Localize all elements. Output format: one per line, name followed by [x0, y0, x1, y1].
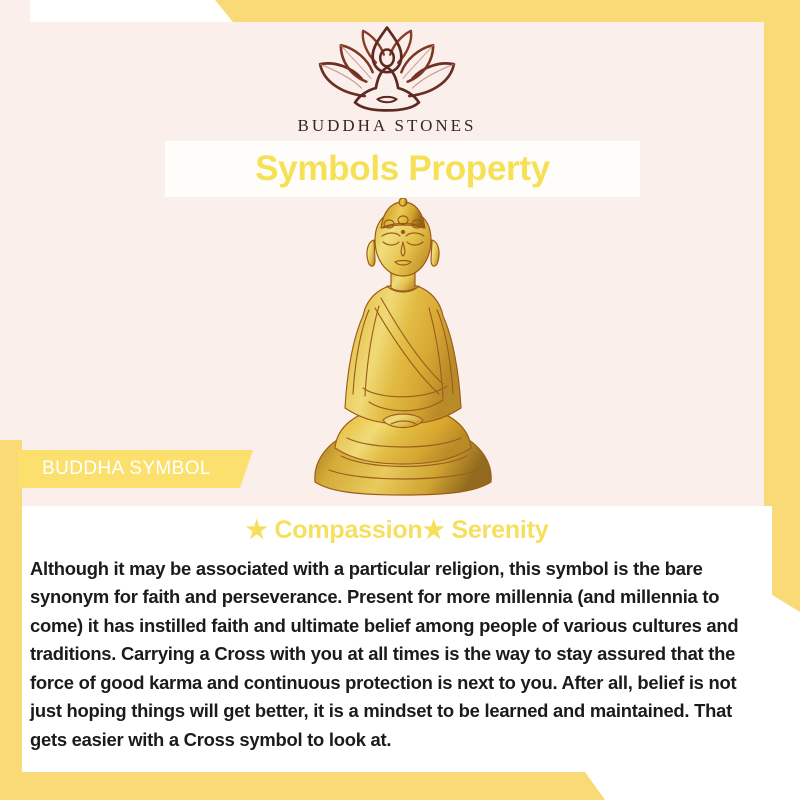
section-body-text: Although it may be associated with a par…: [22, 545, 772, 754]
section-ribbon: BUDDHA SYMBOL: [18, 450, 253, 488]
lotus-meditation-icon: [307, 26, 467, 112]
content-panel: ★ Compassion★ Serenity Although it may b…: [22, 506, 772, 772]
title-band: Symbols Property: [165, 141, 640, 197]
decorative-frame-left: [0, 440, 22, 800]
poster-root: BUDDHA STONES Symbols Property: [0, 0, 800, 800]
page-title: Symbols Property: [255, 149, 550, 189]
buddha-statue-image: [303, 198, 503, 498]
buddha-statue-graphic: [303, 198, 503, 498]
brand-logo: BUDDHA STONES: [0, 26, 774, 136]
decorative-frame-bottom: [0, 772, 800, 800]
cream-background-corner: [0, 0, 30, 22]
gold-texture-overlay: [315, 284, 491, 495]
section-ribbon-label: BUDDHA SYMBOL: [18, 458, 211, 480]
decorative-frame-top: [0, 0, 800, 22]
brand-wordmark: BUDDHA STONES: [0, 116, 774, 136]
section-subtitle: ★ Compassion★ Serenity: [22, 506, 772, 545]
